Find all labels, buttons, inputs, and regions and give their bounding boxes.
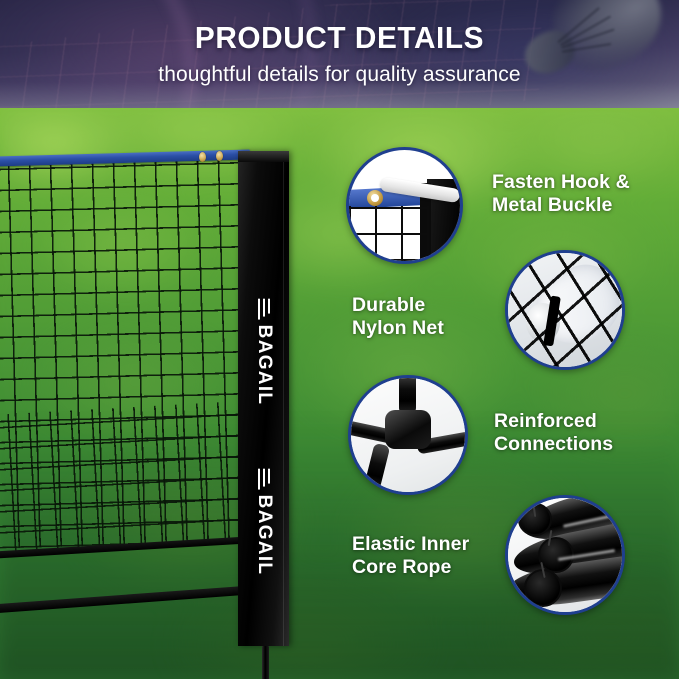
net-bottom-band	[0, 586, 250, 614]
feature-photo-durable-nylon-net[interactable]	[505, 250, 625, 370]
feature-label-reinforced-connections: Reinforced Connections	[494, 410, 613, 456]
label-line-2: Metal Buckle	[492, 194, 630, 217]
brand-name: BAGAIL	[253, 495, 275, 576]
label-line-1: Fasten Hook &	[492, 171, 630, 194]
product-details-infographic: PRODUCT DETAILS thoughtful details for q…	[0, 0, 679, 679]
label-line-2: Connections	[494, 433, 613, 456]
brand-banner: BAGAIL BAGAIL	[238, 151, 289, 646]
grommet-icon	[216, 151, 223, 161]
feature-label-durable-nylon-net: Durable Nylon Net	[352, 294, 444, 340]
header-text-block: PRODUCT DETAILS thoughtful details for q…	[0, 0, 679, 87]
brand-logo: BAGAIL	[253, 299, 275, 406]
net-pole	[262, 646, 269, 679]
label-line-2: Core Rope	[352, 556, 469, 579]
label-line-2: Nylon Net	[352, 317, 444, 340]
page-subtitle: thoughtful details for quality assurance	[0, 56, 679, 87]
banner-top-edge	[238, 151, 289, 162]
grommet-icon	[199, 152, 206, 162]
metal-buckle-icon	[367, 190, 383, 206]
label-line-1: Elastic Inner	[352, 533, 469, 556]
t-connector-closeup	[351, 378, 465, 492]
net-mesh-lower	[0, 401, 250, 555]
label-line-1: Durable	[352, 294, 444, 317]
banner-seam	[283, 162, 284, 646]
label-line-1: Reinforced	[494, 410, 613, 433]
badminton-net-assembly: BAGAIL BAGAIL	[0, 108, 300, 679]
vertical-pipe	[399, 375, 416, 414]
feature-label-fasten-hook-metal-buckle: Fasten Hook & Metal Buckle	[492, 171, 630, 217]
bagail-bars-icon	[257, 469, 270, 490]
bagail-bars-icon	[257, 299, 270, 320]
header-banner: PRODUCT DETAILS thoughtful details for q…	[0, 0, 679, 108]
brand-logo: BAGAIL	[253, 469, 275, 576]
feature-label-elastic-inner-core-rope: Elastic Inner Core Rope	[352, 533, 469, 579]
nylon-net-mesh	[505, 250, 625, 370]
net-mesh-detail	[349, 206, 429, 262]
brand-name: BAGAIL	[253, 325, 275, 406]
feature-photo-fasten-hook-metal-buckle[interactable]	[346, 147, 463, 264]
feature-photo-reinforced-connections[interactable]	[348, 375, 468, 495]
feature-photo-elastic-inner-core-rope[interactable]	[505, 495, 625, 615]
reinforced-connector-node	[385, 410, 431, 449]
hook-and-buckle-closeup	[349, 150, 460, 261]
page-title: PRODUCT DETAILS	[14, 0, 666, 56]
shuttlecock-in-net-closeup	[508, 253, 622, 367]
poles-with-elastic-rope-closeup	[508, 498, 622, 612]
